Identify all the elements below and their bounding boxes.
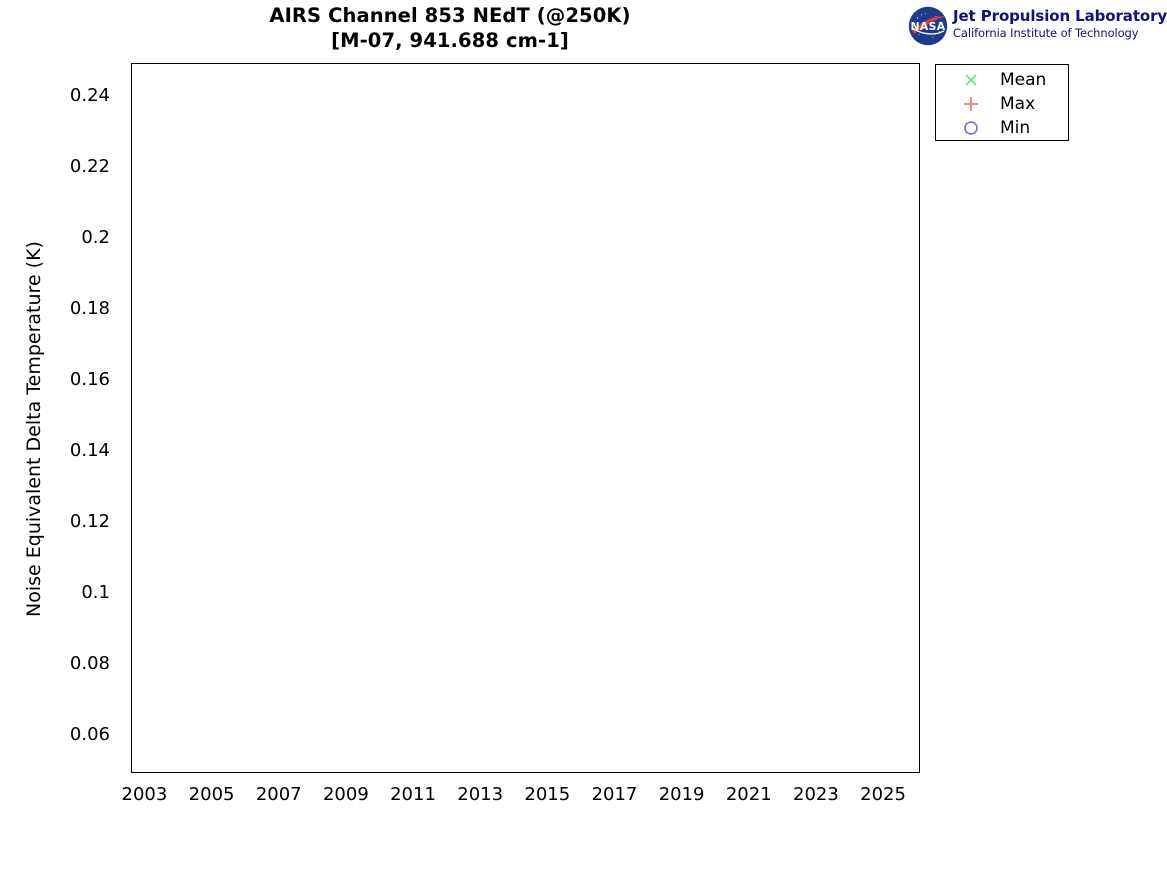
nasa-meatball-icon: NASA: [908, 6, 948, 46]
legend-label-max: Max: [1000, 92, 1035, 116]
chart-legend: Mean Max Min: [935, 64, 1069, 141]
chart-title-line-2: [M-07, 941.688 cm-1]: [0, 29, 900, 54]
figure-root: AIRS Channel 853 NEdT (@250K) [M-07, 941…: [0, 0, 1167, 875]
legend-entry-min: Min: [936, 116, 1068, 140]
y-tick-label: 0.22: [70, 156, 110, 177]
legend-label-mean: Mean: [1000, 68, 1046, 92]
nasa-jpl-logo: NASA Jet Propulsion Laboratory Californi…: [908, 5, 1164, 45]
legend-entry-mean: Mean: [936, 68, 1068, 92]
legend-entry-max: Max: [936, 92, 1068, 116]
legend-marker-plus-icon: [958, 92, 984, 116]
legend-marker-circle-icon: [958, 116, 984, 140]
legend-marker-x-icon: [958, 68, 984, 92]
y-tick-label: 0.1: [81, 582, 110, 603]
y-tick-label: 0.16: [70, 369, 110, 390]
jpl-subtitle: California Institute of Technology: [953, 26, 1167, 40]
x-axis-ticks: 2003200520072009201120132015201720192021…: [0, 784, 1167, 814]
jpl-title: Jet Propulsion Laboratory: [953, 7, 1167, 25]
legend-label-min: Min: [1000, 116, 1030, 140]
y-tick-label: 0.14: [70, 440, 110, 461]
svg-text:NASA: NASA: [910, 20, 945, 33]
y-tick-label: 0.08: [70, 653, 110, 674]
y-tick-label: 0.18: [70, 298, 110, 319]
y-tick-label: 0.2: [81, 227, 110, 248]
y-tick-label: 0.06: [70, 724, 110, 745]
jpl-wordmark: Jet Propulsion Laboratory California Ins…: [953, 7, 1167, 40]
y-axis-label: Noise Equivalent Delta Temperature (K): [23, 129, 45, 729]
chart-title: AIRS Channel 853 NEdT (@250K) [M-07, 941…: [0, 4, 900, 54]
plot-frame: [131, 63, 920, 773]
chart-title-line-1: AIRS Channel 853 NEdT (@250K): [0, 4, 900, 29]
x-tick-label: 2025: [843, 784, 923, 805]
y-axis-ticks: 0.060.080.10.120.140.160.180.20.220.24: [0, 63, 121, 773]
y-tick-label: 0.12: [70, 511, 110, 532]
y-tick-label: 0.24: [70, 85, 110, 106]
plot-area: [131, 63, 920, 773]
